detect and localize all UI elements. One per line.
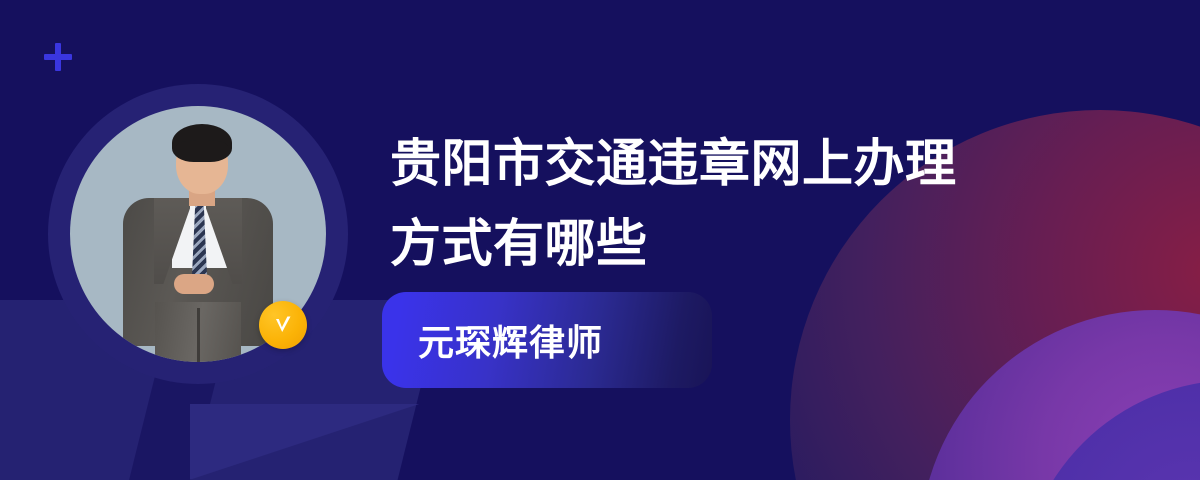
page-title: 贵阳市交通违章网上办理 方式有哪些 bbox=[390, 124, 1080, 284]
diagonal-wedge-shape bbox=[190, 404, 420, 480]
verified-badge-icon bbox=[259, 301, 307, 349]
portrait-legs bbox=[155, 302, 241, 362]
avatar bbox=[48, 84, 348, 384]
plus-icon bbox=[44, 43, 72, 71]
author-name-pill[interactable]: 元琛辉律师 bbox=[382, 292, 712, 388]
author-name-label: 元琛辉律师 bbox=[418, 314, 603, 366]
portrait-hands bbox=[174, 274, 214, 294]
content-block: 贵阳市交通违章网上办理 方式有哪些 元琛辉律师 bbox=[390, 0, 1090, 480]
article-banner: 贵阳市交通违章网上办理 方式有哪些 元琛辉律师 bbox=[0, 0, 1200, 480]
portrait-hair bbox=[172, 124, 232, 162]
